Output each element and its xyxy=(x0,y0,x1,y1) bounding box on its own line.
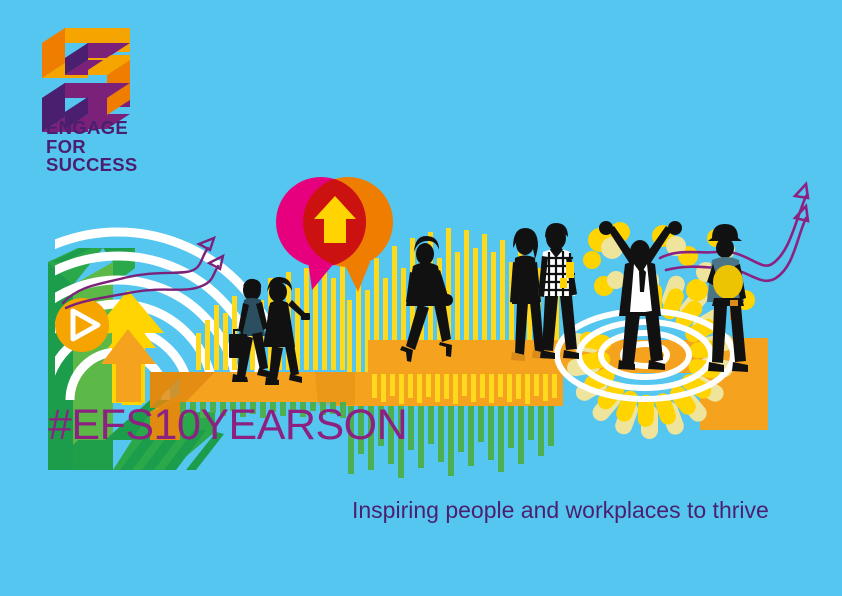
play-button-icon[interactable] xyxy=(55,298,109,352)
logo-line-3: SUCCESS xyxy=(46,156,138,175)
tagline: Inspiring people and workplaces to thriv… xyxy=(352,497,769,523)
poster-canvas: ENGAGE FOR SUCCESS #EFS10YEARSON Inspiri… xyxy=(0,0,842,596)
logo-line-1: ENGAGE xyxy=(46,119,138,138)
logo-wordmark: ENGAGE FOR SUCCESS xyxy=(46,119,138,175)
campaign-hashtag: #EFS10YEARSON xyxy=(48,404,407,447)
